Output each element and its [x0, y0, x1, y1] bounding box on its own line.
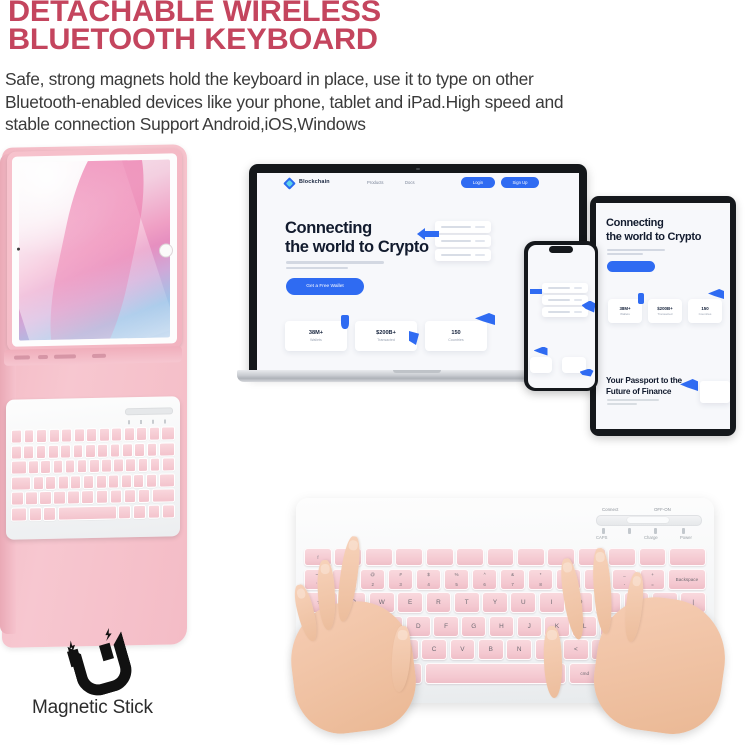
ipad-device	[7, 148, 182, 352]
key-t[interactable]: T	[454, 592, 480, 613]
key-7[interactable]: &7	[500, 569, 525, 590]
tablet-stat-label-3: Countries	[688, 312, 722, 316]
phone-frame	[524, 241, 598, 391]
stat-label-1: Wallets	[285, 338, 347, 342]
key-b[interactable]: B	[478, 639, 504, 660]
phone-price-card-2	[542, 295, 588, 305]
magnetic-stick-label: Magnetic Stick	[32, 697, 232, 719]
phone-stat-1	[530, 357, 552, 373]
key-fn-4[interactable]	[395, 548, 423, 566]
key-fn-5[interactable]	[426, 548, 454, 566]
key-6[interactable]: ^6	[472, 569, 497, 590]
tablet-stat-3: 150 Countries	[688, 299, 722, 323]
stat-card-1: 38M+ Wallets	[285, 321, 347, 351]
key-backspace[interactable]: Backspace	[668, 569, 706, 590]
power-switch-label: OFF-ON	[654, 507, 671, 512]
stat-card-3: 150 Countries	[425, 321, 487, 351]
tablet-frame: Connecting the world to Crypto 38M+ Wall…	[590, 196, 736, 436]
key-j[interactable]: J	[517, 616, 542, 637]
stat-label-3: Countries	[425, 338, 487, 342]
key-fn-3[interactable]	[365, 548, 393, 566]
detached-keyboard-small[interactable]	[6, 396, 180, 540]
tablet-footer-subtext	[607, 399, 661, 407]
keyboard-switch-small[interactable]	[125, 403, 171, 418]
keyboard-leds-small	[128, 419, 170, 425]
tablet-decorative-arrow-2	[708, 289, 724, 299]
key-v[interactable]: V	[450, 639, 476, 660]
connect-label: Connect	[602, 507, 618, 512]
power-led-label: Power	[680, 535, 692, 540]
tablet-stat-value-3: 150	[688, 306, 722, 311]
tablet-stat-value-2: $200B+	[648, 306, 682, 311]
price-card-1	[435, 221, 491, 233]
tablet-footer-heading: Your Passport to the Future of Finance	[606, 375, 682, 397]
key-n[interactable]: N	[506, 639, 532, 660]
key-u[interactable]: U	[510, 592, 536, 613]
phone-price-card-3	[542, 307, 588, 317]
charge-led-label: Charge	[644, 535, 658, 540]
power-switch[interactable]	[596, 515, 702, 526]
description-paragraph: Safe, strong magnets hold the keyboard i…	[5, 68, 750, 136]
key-f[interactable]: F	[433, 616, 458, 637]
nav-link-docs[interactable]: Docs	[405, 180, 415, 185]
page-title: DETACHABLE WIRELESS BLUETOOTH KEYBOARD	[8, 0, 742, 54]
hero-line-2: the world to Crypto	[285, 238, 429, 257]
price-card-3	[435, 249, 491, 261]
product-marketing-image: DETACHABLE WIRELESS BLUETOOTH KEYBOARD S…	[0, 0, 750, 750]
key-h[interactable]: H	[489, 616, 514, 637]
headline-line-2: BLUETOOTH KEYBOARD	[8, 26, 742, 54]
stat-value-1: 38M+	[285, 330, 347, 336]
key-3[interactable]: #3	[388, 569, 413, 590]
key-fn-7[interactable]	[487, 548, 515, 566]
key-r[interactable]: R	[426, 592, 452, 613]
tablet-hero-heading: Connecting the world to Crypto	[606, 217, 701, 244]
key-equals[interactable]: +=	[640, 569, 665, 590]
key-y[interactable]: Y	[482, 592, 508, 613]
tablet-footer-line-2: Future of Finance	[606, 386, 682, 397]
key-4[interactable]: $4	[416, 569, 441, 590]
key-i[interactable]: I	[539, 592, 565, 613]
key-fn-8[interactable]	[517, 548, 545, 566]
key-c[interactable]: C	[421, 639, 447, 660]
website-navbar: Blockchain Products Docs Login Sign Up	[257, 173, 579, 193]
hero-heading: Connecting the world to Crypto	[285, 219, 429, 257]
phone-screen	[528, 245, 595, 388]
key-fn-delete[interactable]	[669, 548, 706, 566]
key-2[interactable]: @2	[360, 569, 385, 590]
stat-label-2: Transacted	[355, 338, 417, 342]
phone-notch	[549, 246, 573, 253]
decorative-arrow-2	[341, 315, 349, 329]
tablet-screen: Connecting the world to Crypto 38M+ Wall…	[596, 203, 730, 429]
keyboard-keys-small[interactable]	[11, 426, 175, 533]
signup-button[interactable]: Sign Up	[501, 177, 539, 188]
hero-line-1: Connecting	[285, 219, 429, 238]
key-5[interactable]: %5	[444, 569, 469, 590]
ipad-case-product	[0, 146, 200, 666]
description-line-2: Bluetooth-enabled devices like your phon…	[5, 91, 750, 114]
tablet-footer-line-1: Your Passport to the	[606, 375, 682, 386]
tablet-hero-subtext	[607, 249, 667, 258]
key-fn-6[interactable]	[456, 548, 484, 566]
tablet-stat-2: $200B+ Transacted	[648, 299, 682, 323]
description-line-1: Safe, strong magnets hold the keyboard i…	[5, 68, 750, 91]
tablet-stat-1: 38M+ Wallets	[608, 299, 642, 323]
tablet-hero-line-2: the world to Crypto	[606, 231, 701, 245]
key-comma[interactable]: <	[563, 639, 589, 660]
phone-decorative-arrow-3	[534, 347, 548, 356]
laptop-camera-icon	[416, 168, 420, 170]
phone-stat-2	[562, 357, 586, 373]
blockchain-logo-icon	[283, 177, 296, 190]
bluetooth-keyboard[interactable]: Connect OFF-ON CAPS Charge Power f n	[296, 498, 714, 703]
hero-subtext	[286, 261, 386, 272]
tablet-stat-label-2: Transacted	[648, 312, 682, 316]
magnet-icon	[60, 628, 124, 690]
key-8[interactable]: *8	[528, 569, 553, 590]
keyboard-indicator-panel[interactable]: Connect OFF-ON CAPS Charge Power	[596, 506, 700, 542]
laptop-base-notch	[393, 370, 441, 373]
stat-card-2: $200B+ Transacted	[355, 321, 417, 351]
tablet-cta-button[interactable]	[607, 261, 655, 272]
tablet-hero-line-1: Connecting	[606, 217, 701, 231]
decorative-arrow-1	[423, 231, 439, 237]
nav-link-products[interactable]: Products	[367, 180, 384, 185]
led-labels: CAPS Charge Power	[596, 535, 700, 541]
key-e[interactable]: E	[397, 592, 423, 613]
key-fn-12[interactable]	[639, 548, 667, 566]
status-leds	[598, 528, 698, 534]
keyboard-row-numbers[interactable]: ~` !1 @2 #3 $4 %5 ^6 &7 *8 (9 )0 _- += B…	[304, 569, 706, 590]
phone-decorative-arrow-1	[530, 289, 542, 294]
phone-device	[524, 241, 598, 391]
price-card-2	[435, 235, 491, 247]
key-g[interactable]: G	[461, 616, 486, 637]
get-wallet-button[interactable]: Get a Free Wallet	[286, 278, 364, 295]
tablet-stat-label-1: Wallets	[608, 312, 642, 316]
login-button[interactable]: Login	[461, 177, 495, 188]
tablet-illustration-card	[700, 381, 730, 403]
stat-value-2: $200B+	[355, 330, 417, 336]
tablet-decorative-arrow-1	[638, 293, 644, 304]
tablet-stat-value-1: 38M+	[608, 306, 642, 311]
description-line-3: stable connection Support Android,iOS,Wi…	[5, 113, 750, 136]
phone-price-card-1	[542, 283, 588, 293]
tablet-device: Connecting the world to Crypto 38M+ Wall…	[590, 196, 736, 436]
ipad-screen-wallpaper	[19, 159, 170, 340]
stat-value-3: 150	[425, 330, 487, 336]
keyboard-row-function[interactable]: f n	[304, 548, 706, 566]
tablet-decorative-arrow-3	[680, 379, 698, 391]
key-fn-11[interactable]	[608, 548, 636, 566]
caps-led-label: CAPS	[596, 535, 607, 540]
brand-name: Blockchain	[299, 179, 330, 185]
